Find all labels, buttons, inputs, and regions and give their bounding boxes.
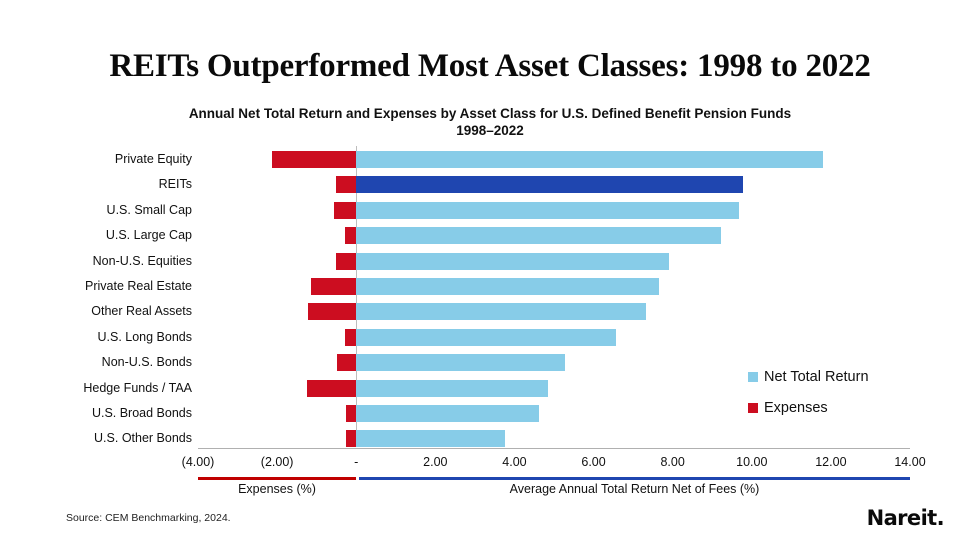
page-title: REITs Outperformed Most Asset Classes: 1… (0, 48, 980, 85)
expenses-bar (308, 303, 356, 320)
chart-baseline (198, 448, 910, 449)
axis-tick-label: 12.00 (815, 455, 846, 469)
net-total-return-bar (356, 329, 616, 346)
expenses-bar (345, 227, 356, 244)
net-total-return-bar (356, 380, 547, 397)
axis-tick-label: (4.00) (182, 455, 215, 469)
legend-swatch-icon (748, 403, 758, 413)
expenses-bar (346, 430, 356, 447)
expenses-axis-rule (198, 477, 356, 480)
expenses-bar (334, 202, 356, 219)
expenses-bar (307, 380, 356, 397)
axis-tick-label: (2.00) (261, 455, 294, 469)
category-label-private-equity: Private Equity (0, 147, 192, 172)
chart-slide: REITs Outperformed Most Asset Classes: 1… (0, 0, 980, 550)
category-label-non-u-s-equities: Non-U.S. Equities (0, 249, 192, 274)
legend-label: Expenses (764, 400, 828, 416)
bar-row (198, 147, 910, 172)
bar-row (198, 299, 910, 324)
net-total-return-bar (356, 354, 565, 371)
axis-tick-label: 2.00 (423, 455, 447, 469)
nareit-logo: Nareit. (867, 506, 944, 530)
category-label-reits: REITs (0, 172, 192, 197)
legend-item[interactable]: Expenses (748, 399, 828, 417)
category-label-u-s-small-cap: U.S. Small Cap (0, 198, 192, 223)
chart-subtitle-line-1: Annual Net Total Return and Expenses by … (0, 104, 980, 123)
bar-row (198, 223, 910, 248)
axis-tick-label: 8.00 (660, 455, 684, 469)
net-total-return-bar (356, 227, 720, 244)
net-total-return-bar (356, 430, 504, 447)
bar-row (198, 172, 910, 197)
axis-tick-label: - (354, 455, 358, 469)
returns-axis-rule (359, 477, 910, 480)
category-label-u-s-broad-bonds: U.S. Broad Bonds (0, 401, 192, 426)
category-label-private-real-estate: Private Real Estate (0, 274, 192, 299)
net-total-return-bar (356, 202, 739, 219)
expenses-axis-title: Expenses (%) (198, 482, 356, 496)
bar-row (198, 325, 910, 350)
legend-swatch-icon (748, 372, 758, 382)
category-label-u-s-large-cap: U.S. Large Cap (0, 223, 192, 248)
expenses-bar (336, 176, 356, 193)
source-note: Source: CEM Benchmarking, 2024. (66, 512, 231, 524)
net-total-return-bar (356, 303, 646, 320)
category-label-u-s-other-bonds: U.S. Other Bonds (0, 426, 192, 451)
chart-subtitle-line-2: 1998–2022 (0, 123, 980, 138)
expenses-bar (345, 329, 356, 346)
expenses-bar (337, 354, 356, 371)
bar-row (198, 249, 910, 274)
expenses-bar (346, 405, 356, 422)
net-total-return-bar (356, 176, 742, 193)
expenses-bar (311, 278, 356, 295)
axis-tick-label: 14.00 (894, 455, 925, 469)
category-axis-labels: Private EquityREITsU.S. Small CapU.S. La… (0, 146, 192, 451)
net-total-return-bar (356, 278, 659, 295)
axis-tick-label: 10.00 (736, 455, 767, 469)
axis-tick-label: 4.00 (502, 455, 526, 469)
legend-label: Net Total Return (764, 369, 869, 385)
net-total-return-bar (356, 253, 669, 270)
expenses-bar (336, 253, 356, 270)
category-label-non-u-s-bonds: Non-U.S. Bonds (0, 350, 192, 375)
category-label-u-s-long-bonds: U.S. Long Bonds (0, 325, 192, 350)
bar-row (198, 198, 910, 223)
net-total-return-bar (356, 405, 538, 422)
axis-tick-label: 6.00 (581, 455, 605, 469)
category-label-other-real-assets: Other Real Assets (0, 299, 192, 324)
legend-item[interactable]: Net Total Return (748, 368, 869, 386)
category-label-hedge-funds-taa: Hedge Funds / TAA (0, 376, 192, 401)
expenses-bar (272, 151, 356, 168)
returns-axis-title: Average Annual Total Return Net of Fees … (359, 482, 910, 496)
value-axis-ticks: (4.00)(2.00)-2.004.006.008.0010.0012.001… (198, 455, 910, 473)
net-total-return-bar (356, 151, 823, 168)
bar-row (198, 274, 910, 299)
